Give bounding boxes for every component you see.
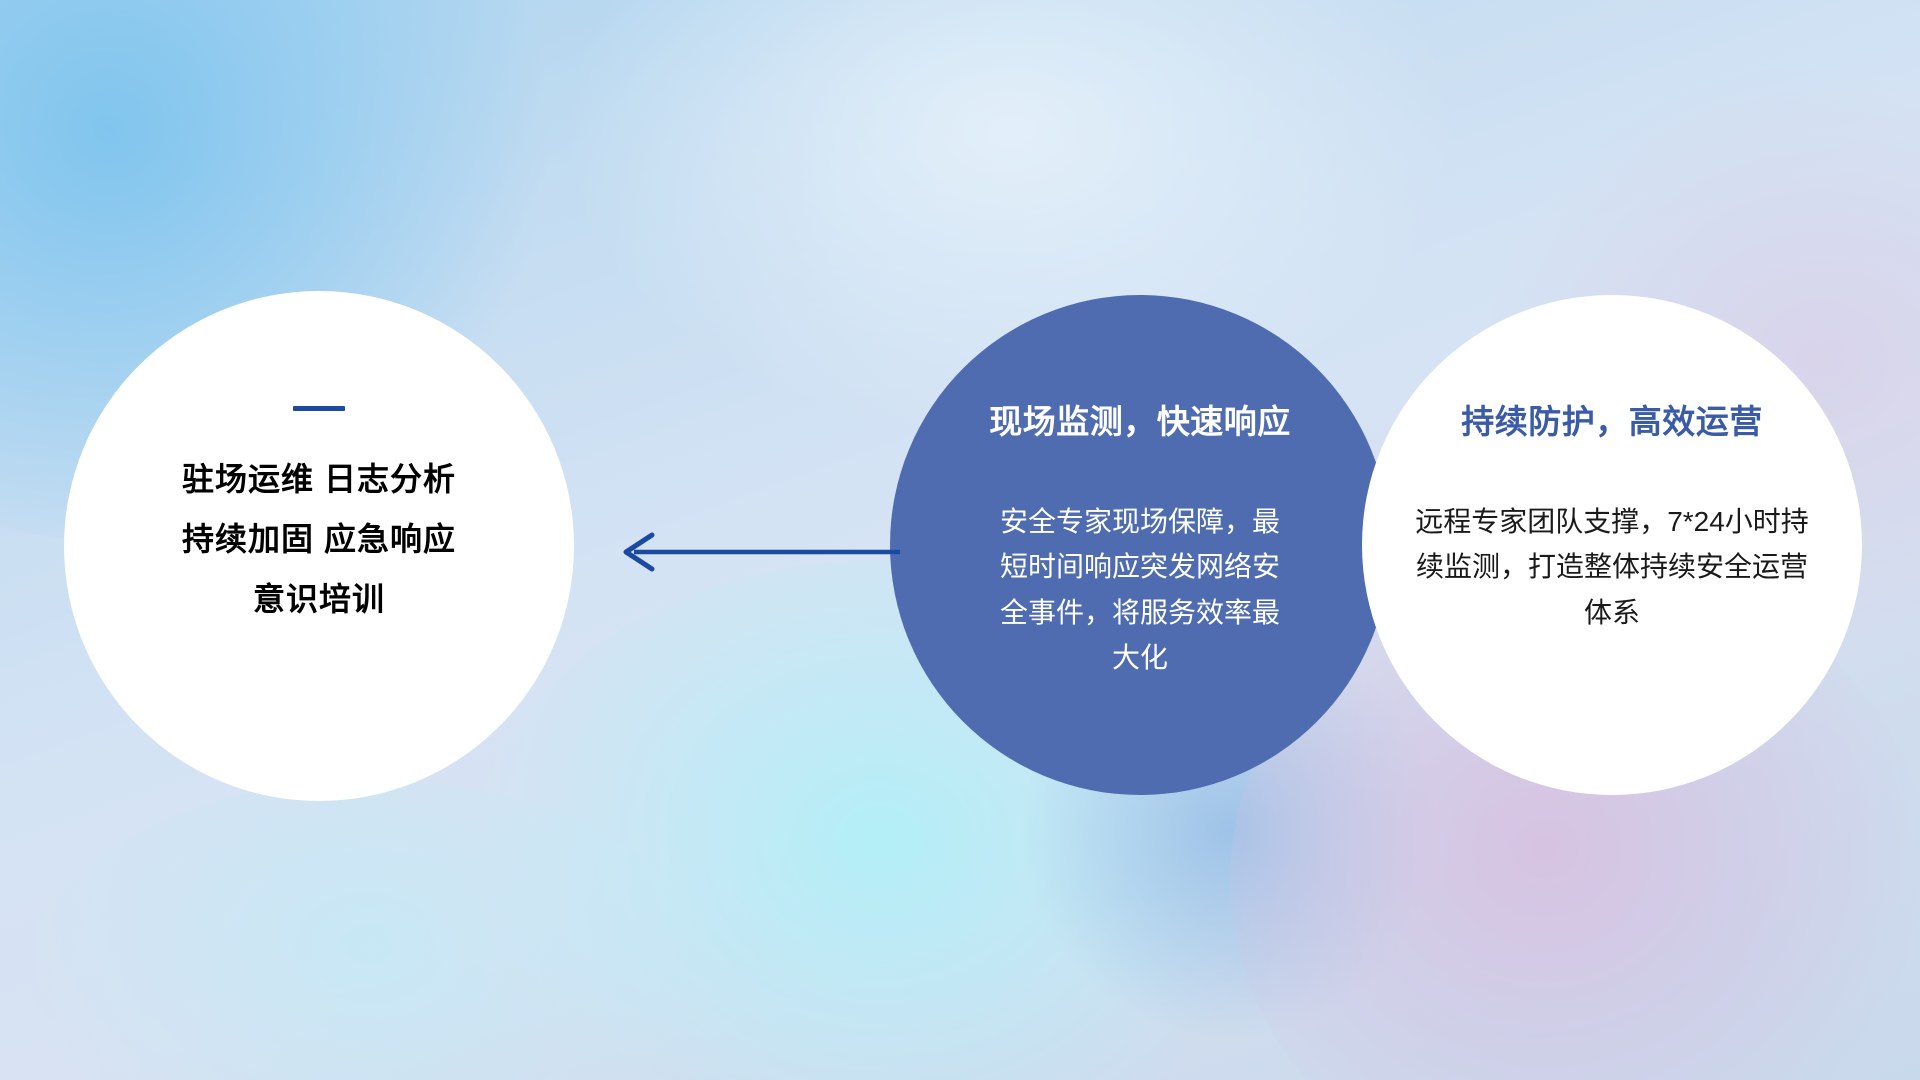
slide-canvas: 驻场运维 日志分析 持续加固 应急响应 意识培训 现场监测，快速响应 安全专家现…: [0, 0, 1920, 1080]
capability-line-3: 意识培训: [182, 569, 456, 629]
service-capabilities-text: 驻场运维 日志分析 持续加固 应急响应 意识培训: [182, 449, 456, 629]
background-glow-cyan-left: [20, 780, 720, 1080]
service-capabilities-circle[interactable]: 驻场运维 日志分析 持续加固 应急响应 意识培训: [64, 291, 574, 801]
onsite-monitoring-body: 安全专家现场保障，最短时间响应突发网络安全事件，将服务效率最大化: [990, 499, 1290, 680]
capability-line-2: 持续加固 应急响应: [182, 509, 456, 569]
divider-dash-icon: [293, 406, 345, 411]
continuous-protection-body: 远程专家团队支撑，7*24小时持续监测，打造整体持续安全运营体系: [1407, 499, 1817, 635]
left-arrow-icon: [612, 528, 902, 576]
continuous-protection-circle[interactable]: 持续防护，高效运营 远程专家团队支撑，7*24小时持续监测，打造整体持续安全运营…: [1362, 295, 1862, 795]
onsite-monitoring-title: 现场监测，快速响应: [989, 395, 1291, 443]
capability-line-1: 驻场运维 日志分析: [182, 449, 456, 509]
onsite-monitoring-circle[interactable]: 现场监测，快速响应 安全专家现场保障，最短时间响应突发网络安全事件，将服务效率最…: [890, 295, 1390, 795]
continuous-protection-title: 持续防护，高效运营: [1461, 395, 1763, 443]
